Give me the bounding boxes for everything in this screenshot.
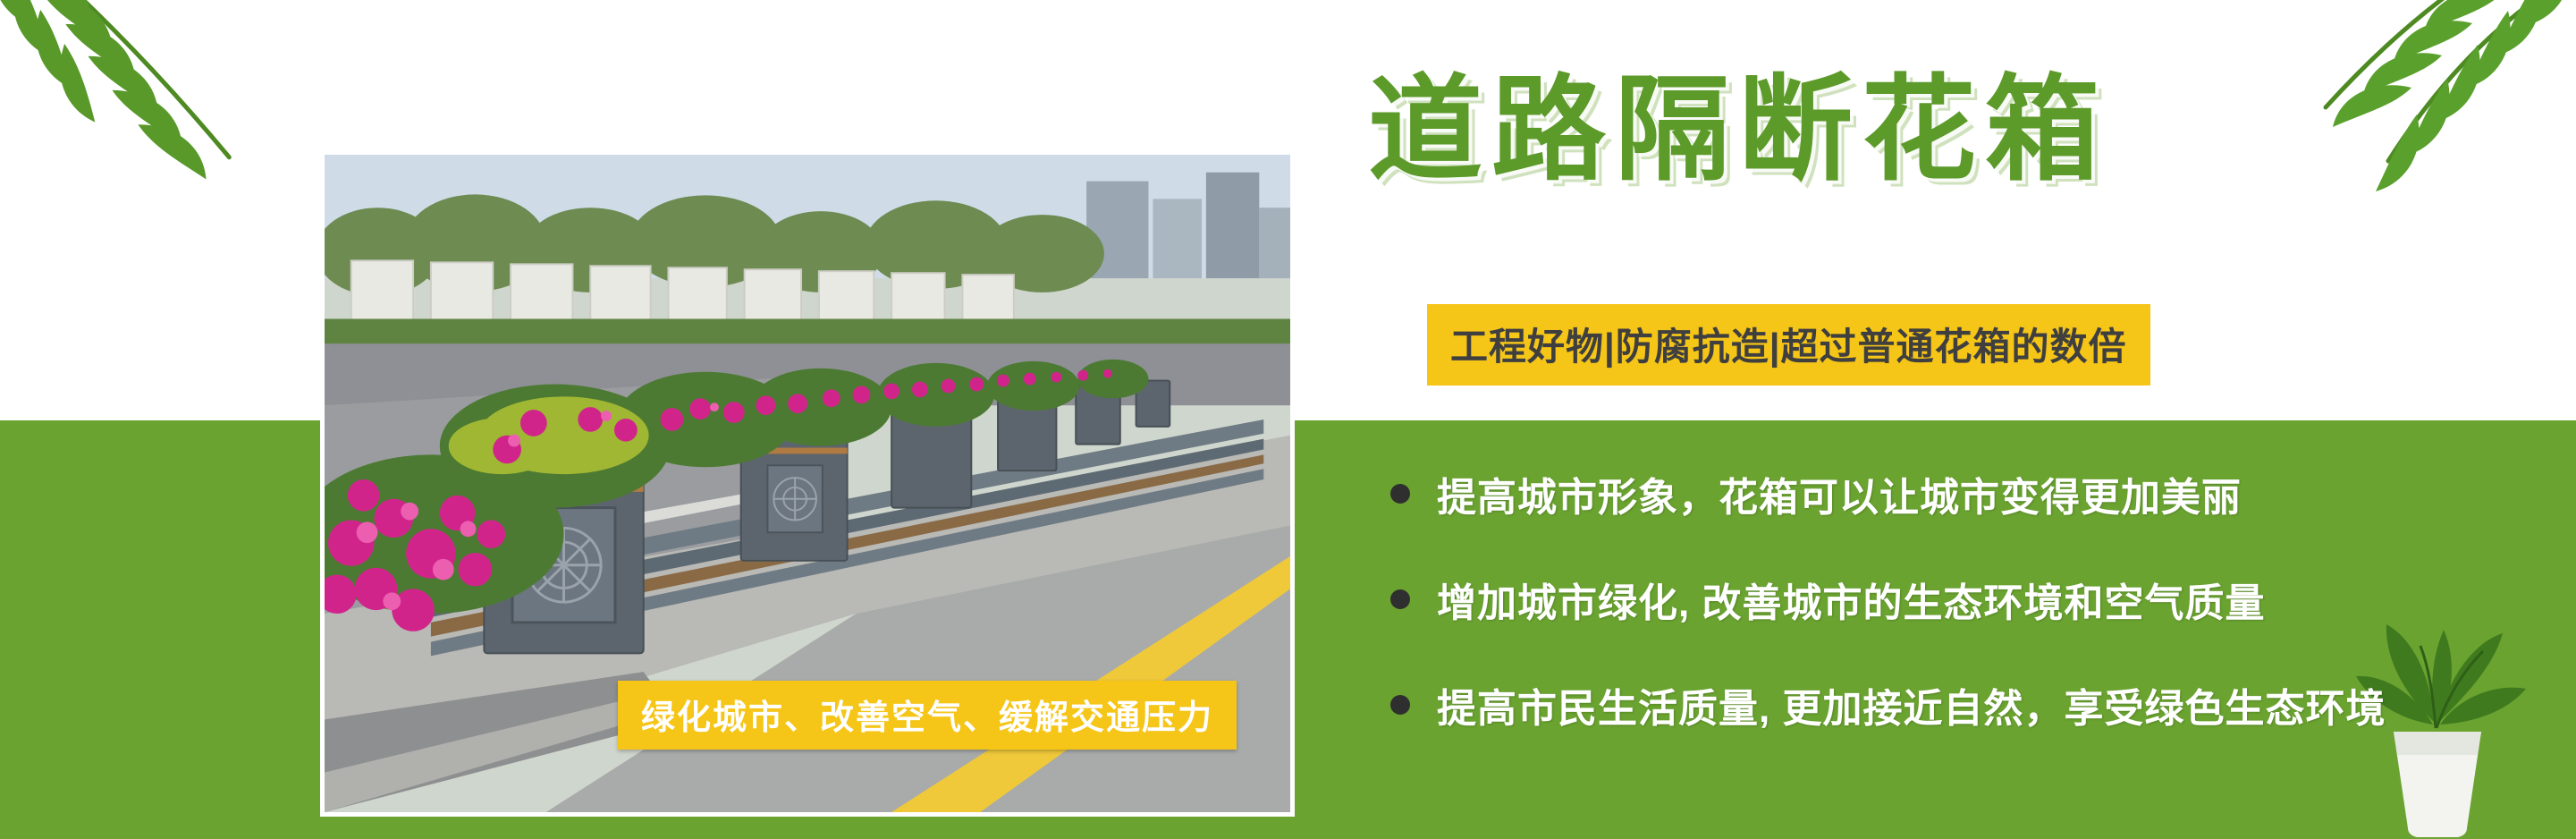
list-item-label: 增加城市绿化, 改善城市的生态环境和空气质量 (1437, 571, 2265, 628)
list-item: 提高城市形象，花箱可以让城市变得更加美丽 (1390, 465, 2553, 522)
palm-frond-icon (2057, 0, 2576, 250)
bullet-dot-icon (1390, 484, 1410, 504)
photo-caption: 绿化城市、改善空气、缓解交通压力 (618, 681, 1237, 750)
list-item: 提高市民生活质量, 更加接近自然，享受绿色生态环境 (1390, 676, 2553, 733)
list-item: 增加城市绿化, 改善城市的生态环境和空气质量 (1390, 571, 2553, 628)
palm-frond-icon (0, 0, 340, 231)
feature-badge: 工程好物|防腐抗造|超过普通花箱的数倍 (1427, 304, 2150, 386)
bullet-dot-icon (1390, 589, 1410, 609)
list-item-label: 提高城市形象，花箱可以让城市变得更加美丽 (1437, 465, 2242, 522)
page-title: 道路隔断花箱 (1368, 73, 2108, 188)
benefit-list: 提高城市形象，花箱可以让城市变得更加美丽 增加城市绿化, 改善城市的生态环境和空… (1390, 465, 2553, 782)
bullet-dot-icon (1390, 695, 1410, 715)
promo-banner: 绿化城市、改善空气、缓解交通压力 道路隔断花箱 工程好物|防腐抗造|超过普通花箱… (0, 0, 2576, 839)
list-item-label: 提高市民生活质量, 更加接近自然，享受绿色生态环境 (1437, 676, 2386, 733)
road-divider-flower-box-photo: 绿化城市、改善空气、缓解交通压力 (320, 150, 1295, 817)
